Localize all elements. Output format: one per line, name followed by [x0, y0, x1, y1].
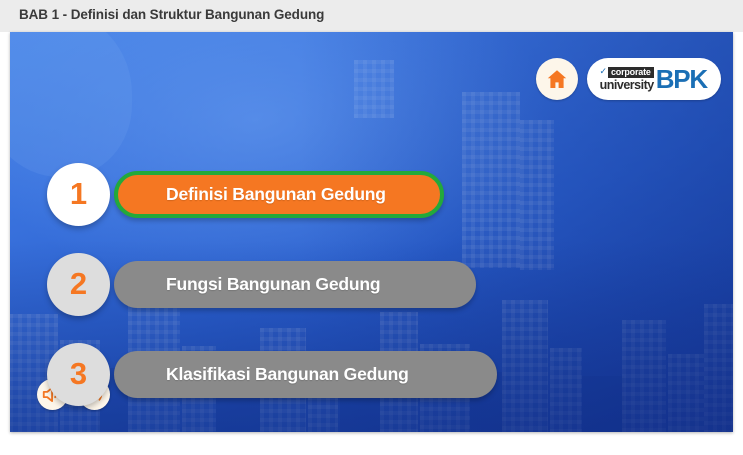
- menu-item-3-number: 3: [70, 358, 87, 389]
- logo-bpk-text: BPK: [656, 66, 707, 92]
- home-button[interactable]: [536, 58, 578, 100]
- menu-item-1-pill[interactable]: Definisi Bangunan Gedung: [114, 171, 444, 218]
- brand-logo: ✓ corporate university BPK: [587, 58, 721, 100]
- menu-item-3-label: Klasifikasi Bangunan Gedung: [166, 364, 409, 385]
- menu-item-1-number-badge: 1: [47, 163, 110, 226]
- home-icon: [545, 67, 569, 91]
- logo-corporate-text: corporate: [608, 67, 654, 78]
- menu-item-1[interactable]: Definisi Bangunan Gedung 1: [47, 163, 110, 226]
- check-mark-icon: ✓: [599, 67, 607, 76]
- brand-row: ✓ corporate university BPK: [536, 58, 721, 100]
- menu-item-1-label: Definisi Bangunan Gedung: [166, 184, 386, 205]
- menu-item-3[interactable]: Klasifikasi Bangunan Gedung 3: [47, 343, 110, 406]
- header-bar: BAB 1 - Definisi dan Struktur Bangunan G…: [0, 0, 743, 32]
- menu-item-2-number-badge: 2: [47, 253, 110, 316]
- menu-item-2-label: Fungsi Bangunan Gedung: [166, 274, 380, 295]
- logo-wordmark: ✓ corporate university: [599, 67, 653, 92]
- menu-item-2[interactable]: Fungsi Bangunan Gedung 2: [47, 253, 110, 316]
- menu-item-2-number: 2: [70, 268, 87, 299]
- menu-item-3-pill[interactable]: Klasifikasi Bangunan Gedung: [114, 351, 497, 398]
- slide-canvas: ✓ corporate university BPK Definisi Bang…: [10, 32, 733, 432]
- slide-viewer: BAB 1 - Definisi dan Struktur Bangunan G…: [0, 0, 743, 455]
- logo-university-text: university: [600, 79, 654, 92]
- menu-item-2-pill[interactable]: Fungsi Bangunan Gedung: [114, 261, 476, 308]
- logo-corporate-row: ✓ corporate: [599, 67, 653, 78]
- menu-item-3-number-badge: 3: [47, 343, 110, 406]
- page-title: BAB 1 - Definisi dan Struktur Bangunan G…: [19, 7, 324, 22]
- menu-item-1-number: 1: [70, 178, 87, 209]
